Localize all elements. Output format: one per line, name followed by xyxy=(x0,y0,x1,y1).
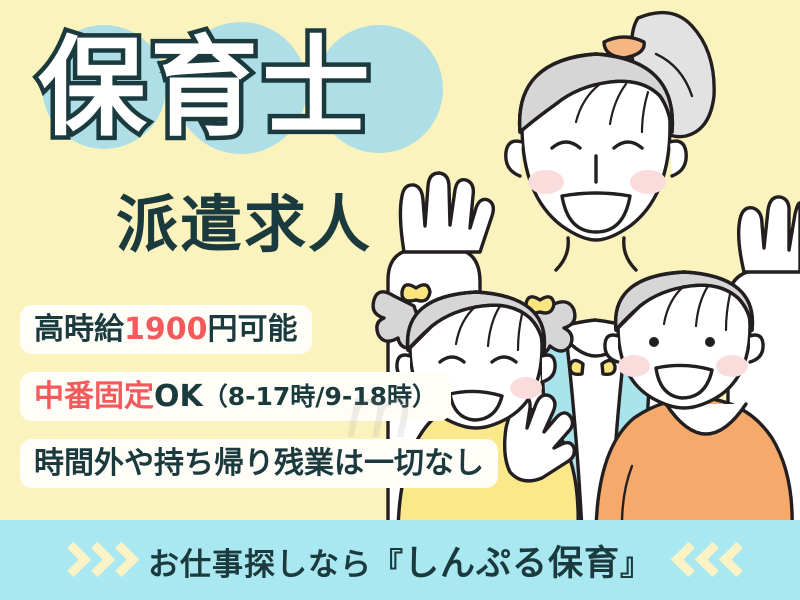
banner-text-prefix: お仕事探しなら『 xyxy=(148,547,404,583)
feature-pill-fixed-shift: 中番固定 OK （8-17時/9-18時） xyxy=(20,372,451,421)
page-title: 保育士 xyxy=(38,30,458,148)
feature-pill-hourly-wage: 高時給 1900 円可能 xyxy=(20,305,312,354)
chevron-right-icon xyxy=(59,543,80,577)
banner-brand-name: しんぷる保育 xyxy=(404,544,620,584)
chevron-left-icon xyxy=(696,543,717,577)
feature-text-3a: 時間外や持ち帰り残業は一切なし xyxy=(34,447,484,481)
feature-text-2c: （8-17時/9-18時） xyxy=(203,380,437,414)
feature-text-1c: 円可能 xyxy=(208,313,298,347)
feature-text-2b: OK xyxy=(154,380,203,414)
headline-block: 保育士 xyxy=(38,30,458,160)
poster-canvas: m 保育士 派遣求人 高時給 1900 円可能 中番固定 OK （8-17時/9… xyxy=(0,0,800,600)
feature-text-1b: 1900 xyxy=(124,313,208,347)
chevron-left-icon xyxy=(672,543,693,577)
chevron-right-icon xyxy=(107,543,128,577)
chevron-right-icon xyxy=(83,543,104,577)
feature-text-1a: 高時給 xyxy=(34,313,124,347)
banner-text: お仕事探しなら『しんぷる保育』 xyxy=(148,535,652,586)
bottom-banner: お仕事探しなら『しんぷる保育』 xyxy=(0,520,800,600)
chevron-left-icon xyxy=(720,543,741,577)
page-subtitle: 派遣求人 xyxy=(116,190,372,260)
feature-list: 高時給 1900 円可能 中番固定 OK （8-17時/9-18時） 時間外や持… xyxy=(20,305,498,506)
chevron-group-right xyxy=(672,543,741,577)
feature-text-2a: 中番固定 xyxy=(34,380,154,414)
chevron-group-left xyxy=(59,543,128,577)
banner-text-suffix: 』 xyxy=(620,547,652,583)
feature-pill-no-overtime: 時間外や持ち帰り残業は一切なし xyxy=(20,439,498,488)
